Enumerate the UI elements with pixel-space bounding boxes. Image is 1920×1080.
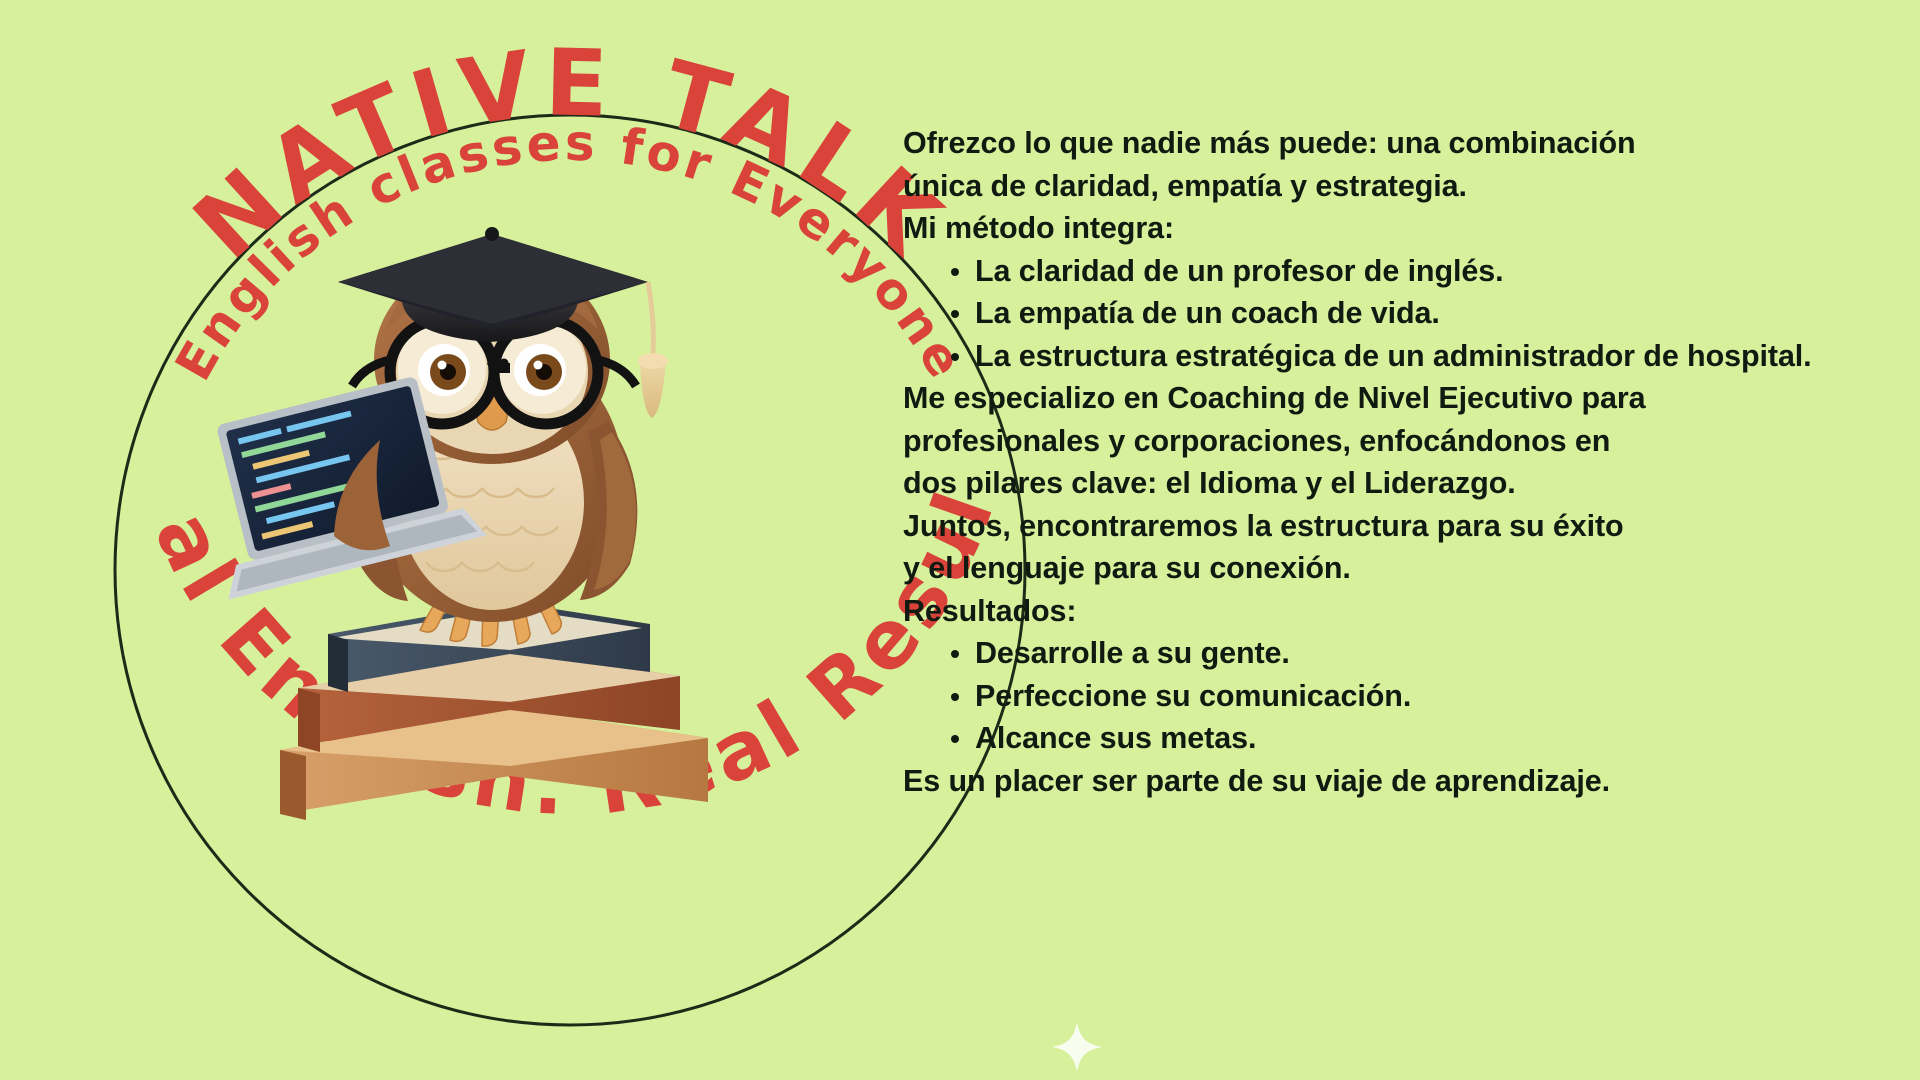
- cap-tassel-cord: [648, 282, 653, 364]
- together-line-2: y el lenguaje para su conexión.: [903, 547, 1903, 590]
- marketing-copy-block: Ofrezco lo que nadie más puede: una comb…: [903, 122, 1903, 802]
- method-list: La claridad de un profesor de inglés. La…: [903, 250, 1903, 378]
- specialty-line-3: dos pilares clave: el Idioma y el Lidera…: [903, 462, 1903, 505]
- closing-line: Es un placer ser parte de su viaje de ap…: [903, 760, 1903, 803]
- specialty-line-1: Me especializo en Coaching de Nivel Ejec…: [903, 377, 1903, 420]
- results-heading: Resultados:: [903, 590, 1903, 633]
- sparkle-icon: [1050, 1020, 1104, 1074]
- list-item: La empatía de un coach de vida.: [949, 292, 1903, 335]
- list-item: Alcance sus metas.: [949, 717, 1903, 760]
- results-list: Desarrolle a su gente. Perfeccione su co…: [903, 632, 1903, 760]
- intro-line-2: única de claridad, empatía y estrategia.: [903, 165, 1903, 208]
- list-item: La estructura estratégica de un administ…: [949, 335, 1903, 378]
- poster-canvas: NATIVE TALK English classes for Everyone…: [0, 0, 1920, 1080]
- list-item: La claridad de un profesor de inglés.: [949, 250, 1903, 293]
- list-item: Perfeccione su comunicación.: [949, 675, 1903, 718]
- specialty-line-2: profesionales y corporaciones, enfocándo…: [903, 420, 1903, 463]
- owl-mascot-illustration: [210, 210, 770, 860]
- list-item: Desarrolle a su gente.: [949, 632, 1903, 675]
- method-heading: Mi método integra:: [903, 207, 1903, 250]
- intro-line-1: Ofrezco lo que nadie más puede: una comb…: [903, 122, 1903, 165]
- together-line-1: Juntos, encontraremos la estructura para…: [903, 505, 1903, 548]
